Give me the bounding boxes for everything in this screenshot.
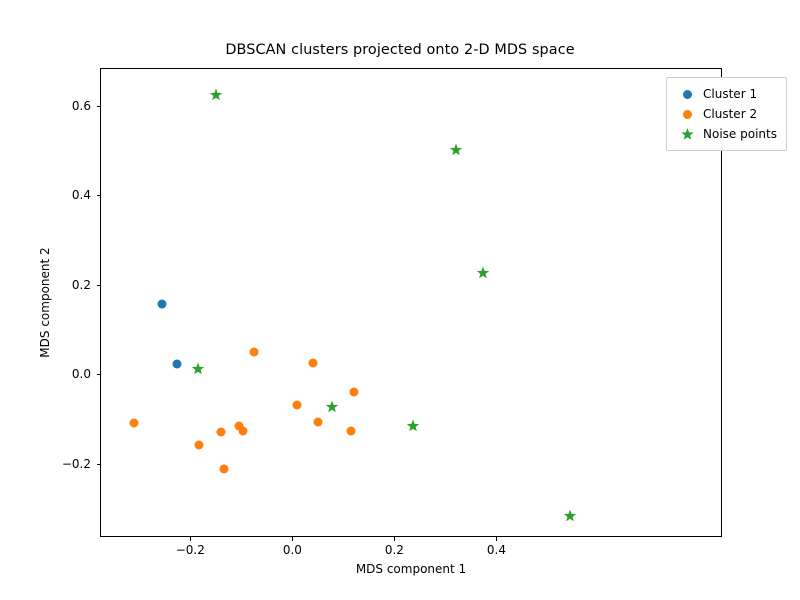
y-tick-label: 0.0 [72,367,91,381]
plot-axes-area [100,68,722,537]
data-point-circle [158,299,167,308]
scatter-points-layer [101,69,721,536]
x-tick-label: 0.0 [283,543,302,557]
y-tick-mark [97,374,101,375]
data-point-circle [314,418,323,427]
data-point-star [406,420,419,433]
x-tick-label: 0.2 [385,543,404,557]
x-tick-mark [292,537,293,541]
data-point-circle [129,419,138,428]
legend-item[interactable]: Noise points [674,124,777,144]
x-axis-label: MDS component 1 [100,562,722,576]
legend-item-label: Cluster 1 [700,87,757,101]
data-point-star [449,144,462,157]
y-tick-label: −0.2 [62,457,91,471]
data-point-circle [217,428,226,437]
legend-star-icon [674,128,700,141]
data-point-circle [293,401,302,410]
y-tick-label: 0.2 [72,278,91,292]
y-tick-mark [97,106,101,107]
y-tick-mark [97,195,101,196]
y-tick-mark [97,285,101,286]
legend-dot-icon [674,90,700,99]
data-point-circle [309,358,318,367]
legend-item[interactable]: Cluster 2 [674,104,777,124]
data-point-circle [349,387,358,396]
data-point-circle [220,464,229,473]
data-point-star [192,362,205,375]
y-tick-label: 0.4 [72,188,91,202]
data-point-star [476,267,489,280]
legend-item-label: Cluster 2 [700,107,757,121]
chart-title: DBSCAN clusters projected onto 2-D MDS s… [0,42,800,58]
y-tick-mark [97,464,101,465]
legend-item[interactable]: Cluster 1 [674,84,777,104]
matplotlib-figure: DBSCAN clusters projected onto 2-D MDS s… [0,0,800,600]
x-tick-label: −0.2 [176,543,205,557]
data-point-circle [346,427,355,436]
legend-dot-icon [674,110,700,119]
y-tick-label: 0.6 [72,99,91,113]
data-point-star [209,88,222,101]
data-point-circle [194,441,203,450]
chart-legend: Cluster 1Cluster 2Noise points [666,77,787,151]
x-tick-mark [190,537,191,541]
data-point-star [564,509,577,522]
data-point-circle [250,348,259,357]
x-tick-label: 0.4 [487,543,506,557]
x-tick-mark [394,537,395,541]
data-point-circle [173,360,182,369]
x-tick-mark [496,537,497,541]
data-point-circle [239,427,248,436]
y-axis-label: MDS component 2 [38,68,52,537]
legend-item-label: Noise points [700,127,777,141]
data-point-star [325,400,338,413]
